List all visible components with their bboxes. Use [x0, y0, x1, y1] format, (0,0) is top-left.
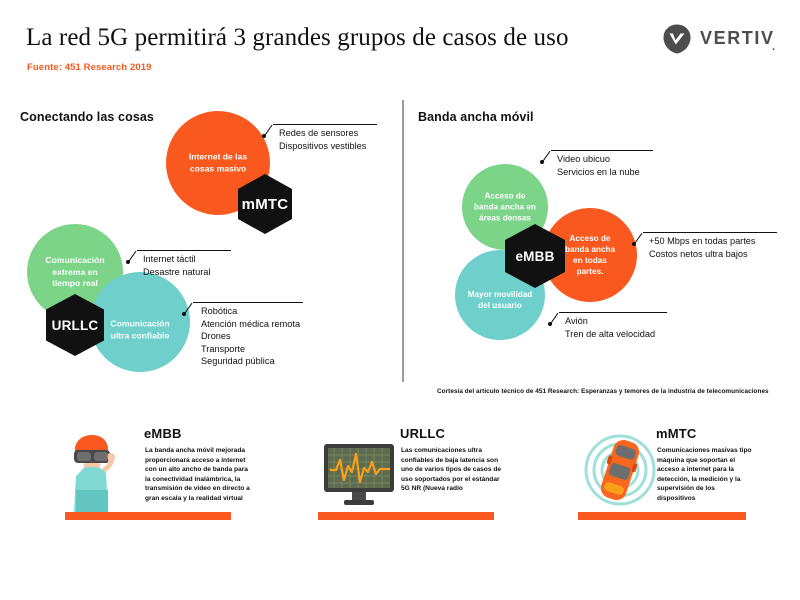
panel-divider [402, 100, 404, 382]
connected-car-icon [582, 428, 658, 512]
monitor-waveform-icon [322, 442, 398, 512]
callout-video-diagonal [542, 151, 550, 162]
circle-mobility-label: Mayor movilidad del usuario [455, 289, 545, 311]
callout-urllc: Robótica Atención médica remota Drones T… [182, 300, 332, 374]
vr-headset-person-icon [64, 430, 126, 512]
circle-ultra-reliable: Comunicación ultra confiable [90, 272, 190, 372]
badge-urllc-label: URLLC [52, 318, 99, 333]
callout-line: Seguridad pública [201, 355, 300, 368]
callout-line: Transporte [201, 343, 300, 356]
courtesy-note: Cortesía del artículo técnico de 451 Res… [437, 388, 769, 395]
callout-mbps-rule [643, 232, 777, 233]
callout-line: Desastre natural [143, 266, 210, 279]
callout-line: Robótica [201, 305, 300, 318]
card-embb-title: eMBB [144, 426, 182, 441]
card-mmtc-title: mMTC [656, 426, 697, 441]
callout-line: Avión [565, 315, 655, 328]
vertiv-wordmark: VERTIV [700, 28, 775, 49]
callout-realtime: Internet táctil Desastre natural [126, 248, 256, 284]
vertiv-trademark-dot: . [772, 41, 775, 53]
callout-line: Internet táctil [143, 253, 210, 266]
callout-video-text: Video ubicuo Servicios en la nube [557, 153, 640, 178]
card-embb-baseline [65, 512, 231, 520]
card-mmtc: mMTC Comunicaciones masivas tipo máquina… [578, 420, 778, 520]
circle-iot-massive-label: Internet de las cosas masivo [166, 152, 270, 175]
callout-video: Video ubicuo Servicios en la nube [540, 148, 680, 184]
circle-dense-areas-label: Acceso de banda ancha en áreas densas [462, 191, 548, 224]
circle-ultra-reliable-label: Comunicación ultra confiable [90, 319, 190, 342]
card-mmtc-baseline [578, 512, 746, 520]
card-embb: eMBB La banda ancha móvil mejorada propo… [62, 420, 262, 520]
callout-realtime-rule [137, 250, 231, 251]
infographic-root: La red 5G permitirá 3 grandes grupos de … [0, 0, 800, 600]
callout-line: +50 Mbps en todas partes [649, 235, 756, 248]
callout-mmtc: Redes de sensores Dispositivos vestibles [262, 122, 392, 158]
callout-line: Atención médica remota [201, 318, 300, 331]
callout-urllc-diagonal [184, 303, 192, 314]
page-title: La red 5G permitirá 3 grandes grupos de … [26, 24, 646, 52]
badge-mmtc-label: mMTC [242, 196, 289, 213]
callout-travel-diagonal [550, 313, 558, 324]
panel-left-title: Conectando las cosas [20, 110, 154, 124]
callout-realtime-diagonal [128, 251, 136, 262]
card-urllc-title: URLLC [400, 426, 445, 441]
callout-travel-text: Avión Tren de alta velocidad [565, 315, 655, 340]
callout-realtime-text: Internet táctil Desastre natural [143, 253, 210, 278]
callout-travel-rule [559, 312, 667, 313]
vertiv-logo: VERTIV . [662, 24, 777, 54]
callout-video-rule [551, 150, 653, 151]
callout-line: Dispositivos vestibles [279, 140, 366, 153]
callout-mmtc-text: Redes de sensores Dispositivos vestibles [279, 127, 366, 152]
callout-line: Redes de sensores [279, 127, 366, 140]
callout-mbps: +50 Mbps en todas partes Costos netos ul… [632, 230, 792, 266]
badge-embb-label: eMBB [515, 249, 554, 264]
panel-right-title: Banda ancha móvil [418, 110, 534, 124]
callout-urllc-text: Robótica Atención médica remota Drones T… [201, 305, 300, 368]
callout-line: Video ubicuo [557, 153, 640, 166]
callout-mbps-text: +50 Mbps en todas partes Costos netos ul… [649, 235, 756, 260]
callout-line: Servicios en la nube [557, 166, 640, 179]
callout-mmtc-diagonal [264, 125, 272, 136]
card-embb-body: La banda ancha móvil mejorada proporcion… [145, 446, 253, 504]
callout-urllc-rule [193, 302, 303, 303]
card-mmtc-body: Comunicaciones masivas tipo máquina que … [657, 446, 755, 504]
callout-travel: Avión Tren de alta velocidad [548, 310, 698, 346]
card-urllc-baseline [318, 512, 494, 520]
card-urllc-body: Las comunicaciones ultra confiables de b… [401, 446, 509, 494]
callout-line: Drones [201, 330, 300, 343]
card-urllc: URLLC Las comunicaciones ultra confiable… [318, 420, 518, 520]
callout-line: Costos netos ultra bajos [649, 248, 756, 261]
vertiv-mark-icon [662, 24, 692, 54]
callout-mmtc-rule [273, 124, 377, 125]
callout-line: Tren de alta velocidad [565, 328, 655, 341]
callout-mbps-diagonal [634, 233, 642, 244]
source-label: Fuente: 451 Research 2019 [27, 62, 151, 73]
